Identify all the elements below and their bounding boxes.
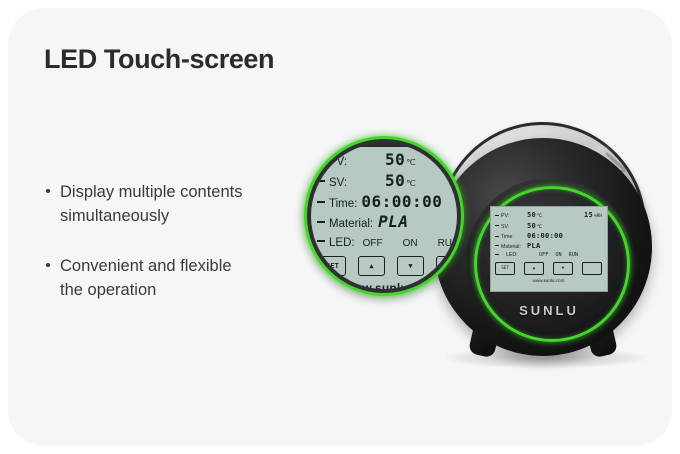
humidity-unit: %RH xyxy=(594,213,602,222)
bullet-line-2: simultaneously xyxy=(60,204,321,228)
lcd-button-row: SET ▲ ▼ xyxy=(495,262,602,275)
sv-unit: ℃ xyxy=(537,224,542,233)
pv-value-zoom: 50 xyxy=(385,151,405,169)
magnifier-callout: PV: 50 ℃ 15%RH SV: 50 ℃ xyxy=(304,136,464,296)
feature-card: LED Touch-screen Display multiple conten… xyxy=(8,8,672,446)
lcd-button-row-zoom: SET ▲ ▼ ON OFF xyxy=(317,256,457,276)
bullet-line-1: Convenient and flexible xyxy=(60,254,321,278)
tick-icon xyxy=(495,215,499,216)
power-off-label: OFF xyxy=(451,256,457,274)
tick-icon xyxy=(317,221,325,223)
lcd-url: www.sunlu.com xyxy=(495,277,602,286)
pv-unit: ℃ xyxy=(537,213,542,222)
pv-label-zoom: PV: xyxy=(329,153,385,171)
tick-icon xyxy=(317,201,325,203)
humidity-readout-zoom: 15%RH xyxy=(434,150,457,175)
device-lcd-panel[interactable]: PV: 50 ℃ 15 %RH SV: 50 ℃ Time: xyxy=(490,206,608,292)
down-button-zoom[interactable]: ▼ xyxy=(397,256,424,276)
power-button-zoom[interactable]: ON OFF xyxy=(436,256,457,276)
page-root: LED Touch-screen Display multiple conten… xyxy=(0,0,680,454)
material-label: Material: xyxy=(501,243,527,252)
led-option-on[interactable]: ON xyxy=(555,251,561,260)
tick-icon xyxy=(495,254,499,255)
lcd-row-material: Material: PLA xyxy=(495,242,602,252)
up-button-zoom[interactable]: ▲ xyxy=(358,256,385,276)
list-item: Convenient and flexible the operation xyxy=(46,254,321,302)
sv-unit-zoom: ℃ xyxy=(406,175,416,193)
tick-icon xyxy=(317,159,325,161)
humidity-value-zoom: 15 xyxy=(434,149,454,168)
bullet-line-1: Display multiple contents xyxy=(60,180,321,204)
humidity-unit-zoom: %RH xyxy=(454,162,457,170)
led-label-zoom: LED: xyxy=(329,234,355,252)
tick-icon xyxy=(317,240,325,242)
list-item: Display multiple contents simultaneously xyxy=(46,180,321,228)
brand-logo: SUNLU xyxy=(496,303,602,318)
sv-value: 50 xyxy=(527,222,536,231)
time-label-zoom: Time: xyxy=(329,195,357,213)
sv-value-zoom: 50 xyxy=(385,172,405,190)
lcd-row-sv: SV: 50 ℃ xyxy=(495,222,602,233)
tick-icon xyxy=(495,245,499,246)
material-label-zoom: Material: xyxy=(329,215,373,233)
tick-icon xyxy=(495,236,499,237)
led-option-run-zoom[interactable]: RUN xyxy=(438,235,457,253)
lcd-row-pv: PV: 50 ℃ 15 %RH xyxy=(495,211,602,222)
bullet-dot-icon xyxy=(46,263,50,267)
page-title: LED Touch-screen xyxy=(44,44,274,75)
material-value-zoom: PLA xyxy=(378,213,408,231)
power-button[interactable] xyxy=(582,262,602,275)
pv-label: PV: xyxy=(501,212,527,221)
down-button[interactable]: ▼ xyxy=(553,262,573,275)
bullet-dot-icon xyxy=(46,189,50,193)
sv-label: SV: xyxy=(501,223,527,232)
time-value-zoom: 06:00:00 xyxy=(361,193,442,211)
tick-icon xyxy=(317,180,325,182)
bullet-line-2: the operation xyxy=(60,278,321,302)
feature-bullet-list: Display multiple contents simultaneously… xyxy=(46,180,321,328)
set-button[interactable]: SET xyxy=(495,262,515,275)
filament-dryer-device: PV: 50 ℃ 15 %RH SV: 50 ℃ Time: xyxy=(428,120,658,385)
set-button-zoom[interactable]: SET xyxy=(319,256,346,276)
humidity-value: 15 xyxy=(584,211,593,220)
pv-unit-zoom: ℃ xyxy=(406,154,416,172)
sv-label-zoom: SV: xyxy=(329,174,385,192)
lcd-url-zoom: www.sunlu.com xyxy=(317,279,457,289)
tick-icon xyxy=(495,225,499,226)
time-label: Time: xyxy=(501,233,527,242)
time-value: 06:00:00 xyxy=(527,232,563,241)
led-option-off[interactable]: OFF xyxy=(539,251,548,260)
lcd-row-time-zoom: Time: 06:00:00 xyxy=(317,193,457,213)
lcd-row-material-zoom: Material: PLA xyxy=(317,213,457,233)
material-value: PLA xyxy=(527,242,541,251)
magnified-lcd-panel[interactable]: PV: 50 ℃ 15%RH SV: 50 ℃ xyxy=(311,147,457,289)
lcd-row-led-zoom: LED: OFF ON RUN xyxy=(317,234,457,253)
up-button[interactable]: ▲ xyxy=(524,262,544,275)
lcd-row-time: Time: 06:00:00 xyxy=(495,232,602,242)
led-option-off-zoom[interactable]: OFF xyxy=(363,235,383,253)
lcd-row-led: LED: OFF ON RUN xyxy=(495,251,602,260)
pv-value: 50 xyxy=(527,211,536,220)
led-option-on-zoom[interactable]: ON xyxy=(403,235,418,253)
led-option-run[interactable]: RUN xyxy=(569,251,578,260)
led-label: LED: xyxy=(506,251,532,260)
magnifier-inner: PV: 50 ℃ 15%RH SV: 50 ℃ xyxy=(311,143,457,289)
device-body: PV: 50 ℃ 15 %RH SV: 50 ℃ Time: xyxy=(434,138,652,356)
